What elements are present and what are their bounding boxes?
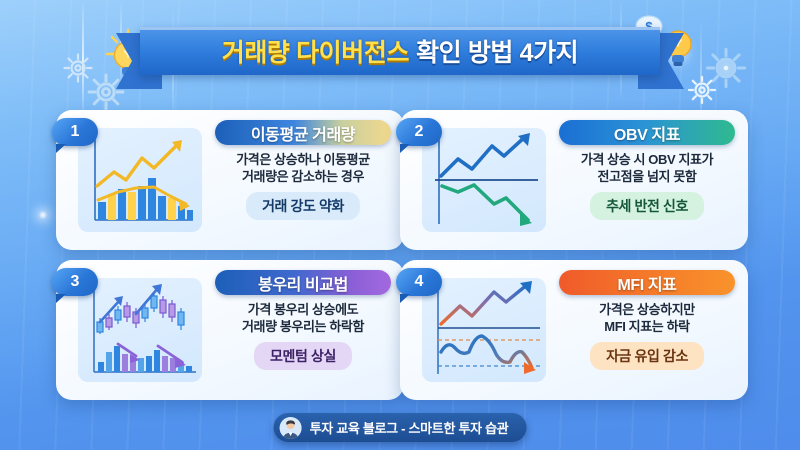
card-moving-average-volume[interactable]: 1 <box>56 110 404 250</box>
gear-icon <box>62 52 94 89</box>
card-body: 봉우리 비교법 가격 봉우리 상승에도 거래량 봉우리는 하락함 모멘텀 상실 <box>210 270 396 392</box>
card-description: 가격 상승 시 OBV 지표가 전고점을 넘지 못함 <box>581 151 713 185</box>
card-number-badge: 2 <box>396 118 442 146</box>
page-title-rest: 확인 방법 4가지 <box>416 33 578 69</box>
divergent-arrows-chart <box>422 128 546 232</box>
card-description-line-2: 거래량 봉우리는 하락함 <box>242 318 364 335</box>
card-tag: 거래 강도 약화 <box>246 192 360 220</box>
gear-icon <box>704 46 748 95</box>
title-ribbon: 거래량 다이버전스 확인 방법 4가지 <box>140 27 660 75</box>
card-description-line-1: 가격 봉우리 상승에도 <box>242 301 364 318</box>
gear-icon <box>686 74 718 111</box>
card-description-line-1: 가격 상승 시 OBV 지표가 <box>581 151 713 168</box>
card-title: 이동평균 거래량 <box>215 120 391 145</box>
page-title: 거래량 다이버전스 확인 방법 4가지 <box>140 27 660 75</box>
card-body: 이동평균 거래량 가격은 상승하나 이동평균 거래량은 감소하는 경우 거래 강… <box>210 120 396 242</box>
card-mfi-indicator[interactable]: 4 MFI <box>400 260 748 400</box>
infographic-canvas: $ 거래량 다이버전스 확인 방법 4가지 1 <box>0 0 800 450</box>
card-number-badge: 4 <box>396 268 442 296</box>
card-description-line-1: 가격은 상승하지만 <box>599 301 695 318</box>
card-description: 가격 봉우리 상승에도 거래량 봉우리는 하락함 <box>242 301 364 335</box>
card-description-line-1: 가격은 상승하나 이동평균 <box>236 151 370 168</box>
card-description-line-2: 거래량은 감소하는 경우 <box>236 168 370 185</box>
card-number-badge: 1 <box>52 118 98 146</box>
card-tag: 자금 유입 감소 <box>590 342 704 370</box>
footer-badge[interactable]: 투자 교육 블로그 - 스마트한 투자 습관 <box>274 413 527 442</box>
card-tag: 모멘텀 상실 <box>254 342 352 370</box>
footer-text: 투자 교육 블로그 - 스마트한 투자 습관 <box>310 418 509 437</box>
card-description-line-2: MFI 지표는 하락 <box>599 318 695 335</box>
card-description: 가격은 상승하지만 MFI 지표는 하락 <box>599 301 695 335</box>
card-title: MFI 지표 <box>559 270 735 295</box>
page-title-highlight: 거래량 다이버전스 <box>222 33 409 69</box>
person-avatar-icon <box>280 417 302 439</box>
sparkle-dot <box>40 212 46 218</box>
volume-bars-with-arrows-chart <box>78 128 202 232</box>
card-obv-indicator[interactable]: 2 OBV 지표 가격 상승 시 OBV 지표가 전고점을 넘지 못함 추세 반… <box>400 110 748 250</box>
card-title: OBV 지표 <box>559 120 735 145</box>
card-body: OBV 지표 가격 상승 시 OBV 지표가 전고점을 넘지 못함 추세 반전 … <box>554 120 740 242</box>
card-number-badge: 3 <box>52 268 98 296</box>
card-description: 가격은 상승하나 이동평균 거래량은 감소하는 경우 <box>236 151 370 185</box>
light-beam <box>82 0 84 120</box>
card-title: 봉우리 비교법 <box>215 270 391 295</box>
card-description-line-2: 전고점을 넘지 못함 <box>581 168 713 185</box>
candlestick-volume-chart <box>78 278 202 382</box>
card-body: MFI 지표 가격은 상승하지만 MFI 지표는 하락 자금 유입 감소 <box>554 270 740 392</box>
light-beam <box>120 0 122 90</box>
card-tag: 추세 반전 신호 <box>590 192 704 220</box>
mfi-oscillator-chart <box>422 278 546 382</box>
card-peak-comparison[interactable]: 3 <box>56 260 404 400</box>
